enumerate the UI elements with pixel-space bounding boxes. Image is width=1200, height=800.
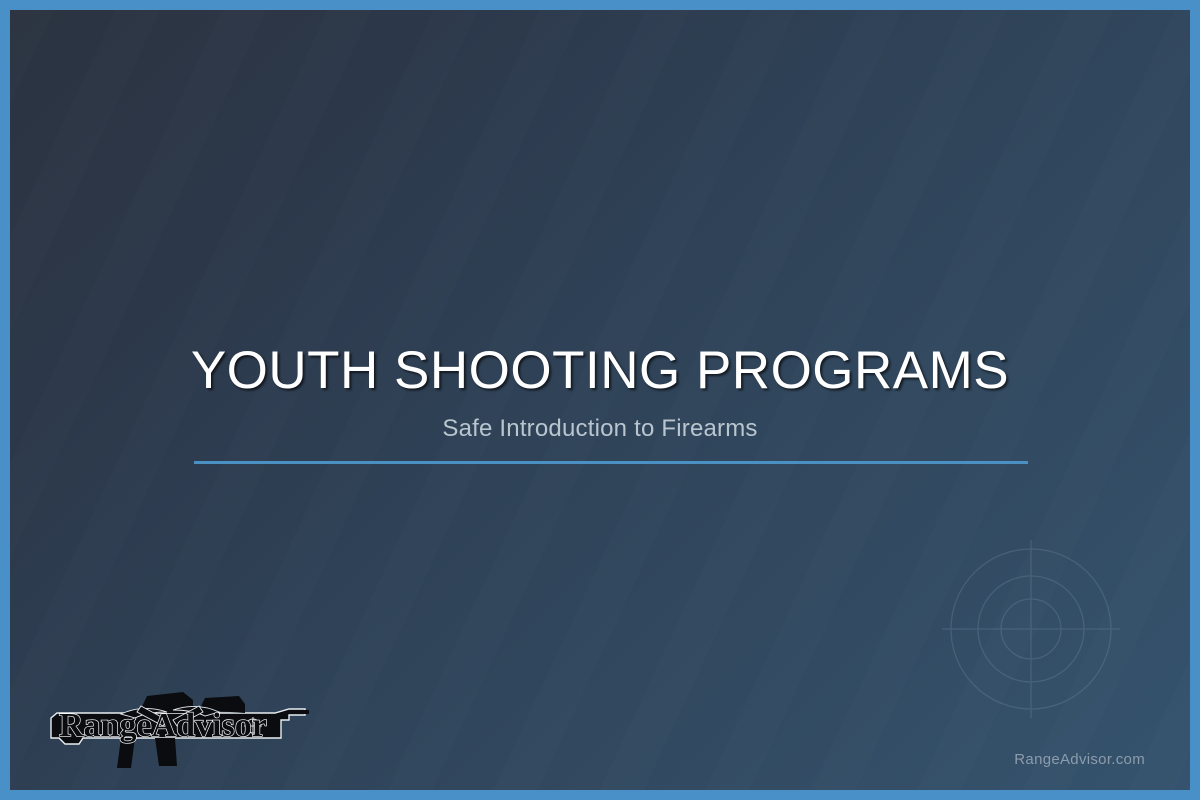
footer-url: RangeAdvisor.com bbox=[1014, 751, 1145, 768]
rangeadvisor-logo: RangeAdvisor bbox=[43, 682, 315, 774]
presentation-slide: YOUTH SHOOTING PROGRAMS Safe Introductio… bbox=[0, 0, 1200, 800]
page-subtitle: Safe Introduction to Firearms bbox=[10, 415, 1190, 443]
page-title: YOUTH SHOOTING PROGRAMS bbox=[10, 342, 1190, 399]
title-block: YOUTH SHOOTING PROGRAMS Safe Introductio… bbox=[10, 342, 1190, 443]
logo-wordmark: RangeAdvisor bbox=[59, 707, 267, 744]
accent-divider bbox=[194, 461, 1028, 464]
